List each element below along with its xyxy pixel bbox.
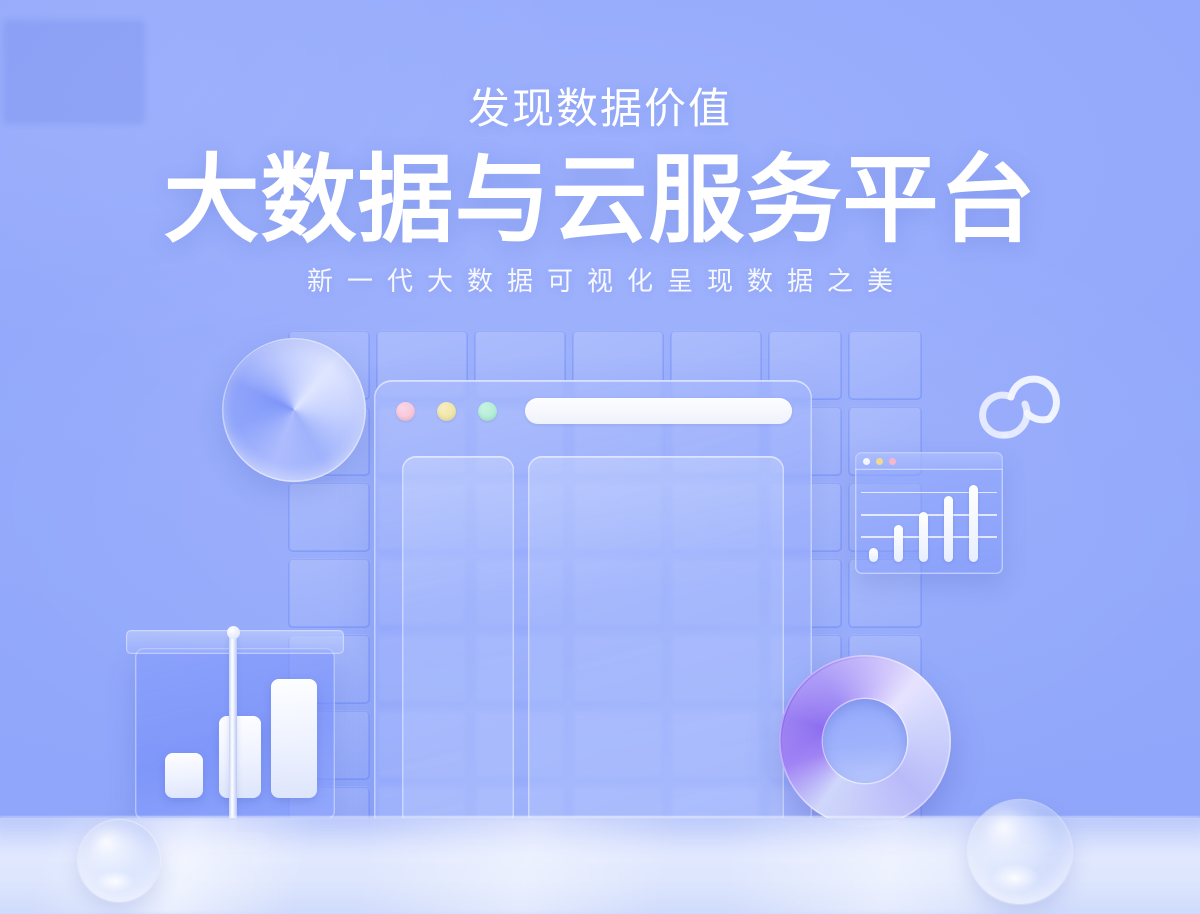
sidebar-pane[interactable] [402,456,514,828]
gradient-disc [222,338,366,482]
grid-cell [288,482,370,552]
content-pane[interactable] [528,456,784,828]
page-title: 大数据与云服务平台 [0,152,1200,250]
cloud-icon [975,365,1067,443]
torus-hole [823,699,907,783]
hero-tagline: 新一代大数据可视化呈现数据之美 [0,268,1200,294]
bar-chart-bar [271,679,317,798]
mini-chart-titlebar [855,452,1003,470]
disc-rim [222,338,366,482]
mini-chart-bar [944,496,953,562]
glass-sphere-large [968,800,1072,904]
grid-cell [288,558,370,628]
browser-titlebar [374,380,812,442]
mini-dot-white[interactable] [863,458,870,465]
url-input[interactable] [525,398,792,424]
floor-lamp-pole [229,632,237,844]
hero-banner: 发现数据价值 大数据与云服务平台 新一代大数据可视化呈现数据之美 [0,0,1200,914]
mini-chart-bar [969,485,978,562]
mini-dot-pink[interactable] [889,458,896,465]
mini-chart-bar [919,512,928,562]
gradient-torus [779,655,951,827]
hero-kicker: 发现数据价值 [0,88,1200,130]
glass-sphere-small [78,820,160,902]
close-dot[interactable] [396,402,415,421]
floor-lamp-cap [227,626,240,639]
grid-cell [848,330,922,400]
maximize-dot[interactable] [478,402,497,421]
hero-text-block: 发现数据价值 大数据与云服务平台 新一代大数据可视化呈现数据之美 [0,0,1200,294]
mini-chart-bar [894,525,903,562]
minimize-dot[interactable] [437,402,456,421]
browser-window-mockup[interactable] [374,380,812,842]
mini-chart-window[interactable] [855,452,1003,574]
mini-chart-bar [869,548,878,562]
bar-chart-bar [219,716,261,798]
bar-chart-bar [165,753,203,798]
mini-dot-yellow[interactable] [876,458,883,465]
mini-chart-plot [855,470,1003,574]
